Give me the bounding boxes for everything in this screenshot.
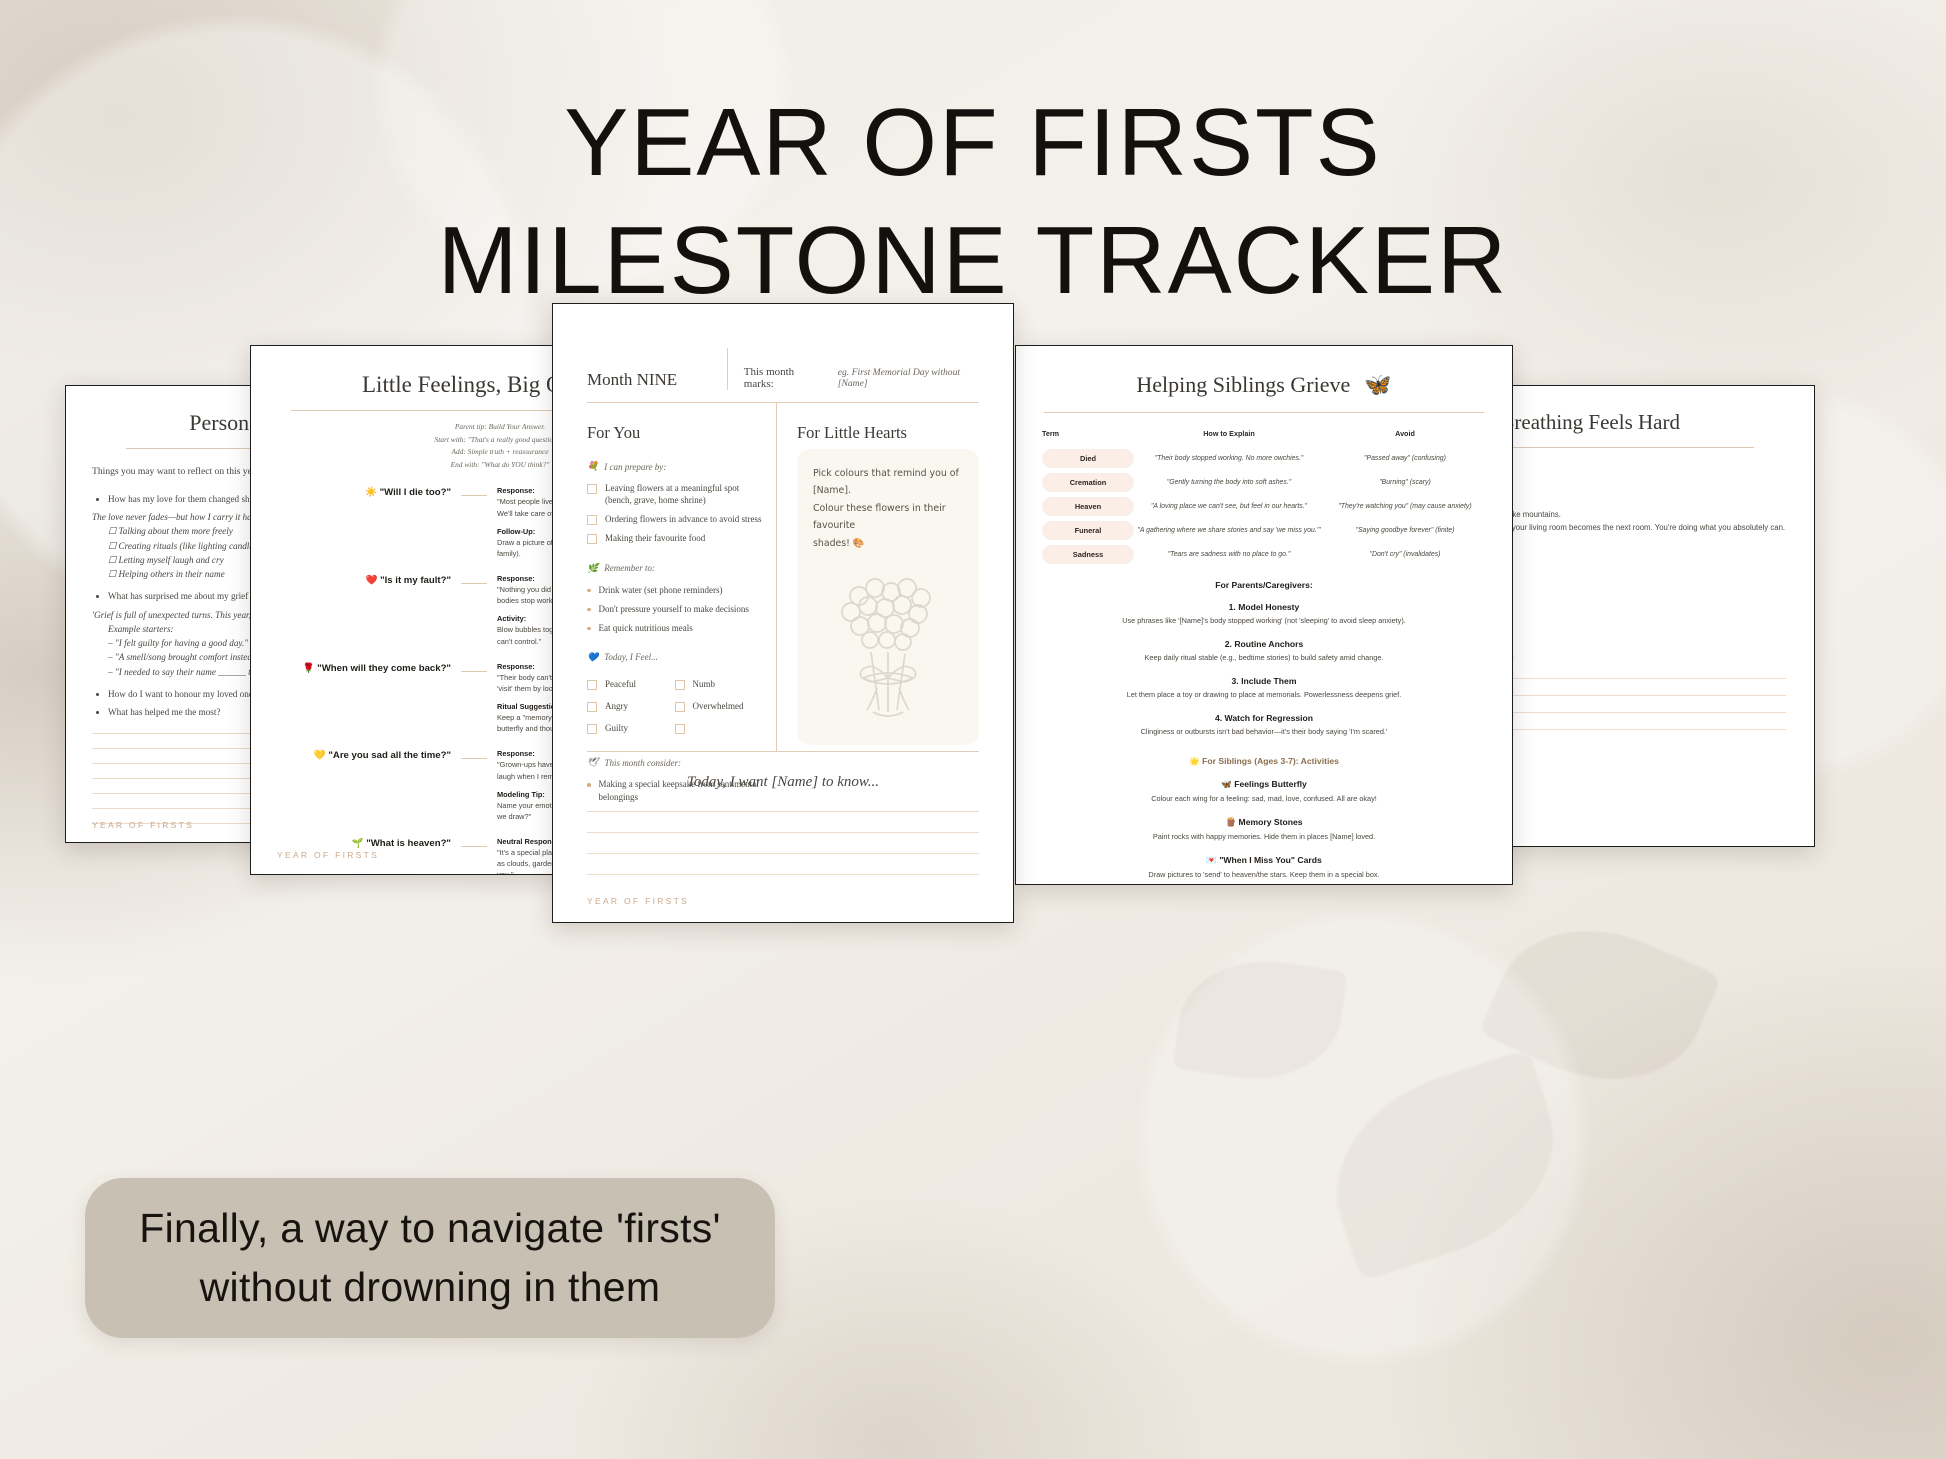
explain-cell: "Tears are sadness with no place to go."	[1134, 550, 1324, 560]
parents-list: 1. Model HonestyUse phrases like '[Name]…	[1042, 602, 1486, 738]
checkbox-label: Numb	[693, 678, 716, 690]
bullet-text: Drink water (set phone reminders)	[599, 584, 723, 596]
for-little-hearts-column: For Little Hearts Pick colours that remi…	[777, 403, 979, 751]
table-header-cell: How to Explain	[1134, 429, 1324, 438]
section-heading: 3. Include Them	[1042, 676, 1486, 686]
avoid-cell: "They're watching you" (may cause anxiet…	[1324, 502, 1486, 512]
page4-title: Helping Siblings Grieve	[1136, 372, 1350, 398]
checkbox-row[interactable]: Making their favourite food	[587, 532, 762, 544]
checkbox-label: Ordering flowers in advance to avoid str…	[605, 513, 761, 525]
colouring-card[interactable]: Pick colours that remind you of [Name]. …	[797, 449, 979, 745]
avoid-cell: "Don't cry" (invalidates)	[1324, 550, 1486, 560]
feelings-checklist[interactable]: PeacefulNumbAngryOverwhelmedGuilty	[587, 673, 762, 739]
consider-label: This month consider:	[604, 758, 681, 768]
section-heading: 💌 "When I Miss You" Cards	[1042, 855, 1486, 866]
preview-page-helping-siblings[interactable]: Helping Siblings Grieve 🦋 TermHow to Exp…	[1015, 345, 1513, 885]
explain-cell: "Gently turning the body into soft ashes…	[1134, 478, 1324, 488]
connector-dash	[461, 846, 487, 847]
checkbox-row[interactable]: Numb	[675, 678, 763, 690]
remember-heading: 🌿 Remember to:	[587, 563, 762, 574]
heart-icon: 💙	[587, 652, 598, 663]
checkbox-label: Angry	[605, 700, 628, 712]
for-little-hearts-heading: For Little Hearts	[797, 423, 979, 443]
bullet-dot	[587, 608, 591, 612]
checkbox-row[interactable]: Peaceful	[587, 678, 675, 690]
connector-dash	[461, 758, 487, 759]
checkbox-row[interactable]: Ordering flowers in advance to avoid str…	[587, 513, 762, 525]
connector-dash	[461, 583, 487, 584]
checkbox-label: Making their favourite food	[605, 532, 705, 544]
term-pill: Sadness	[1042, 545, 1134, 564]
section-heading: 🦋 Feelings Butterfly	[1042, 779, 1486, 790]
bullet-row: Don't pressure yourself to make decision…	[587, 603, 762, 615]
question-label: ☀️ "Will I die too?"	[273, 485, 451, 559]
table-row: Funeral"A gathering where we share stori…	[1042, 521, 1486, 540]
checkbox-row[interactable]: Guilty	[587, 722, 675, 734]
avoid-cell: "Burning" (scary)	[1324, 478, 1486, 488]
dove-icon: 🕊	[587, 757, 598, 768]
prepare-label: I can prepare by:	[604, 462, 666, 472]
cta-banner: Finally, a way to navigate 'firsts' with…	[85, 1178, 775, 1338]
page4-title-row: Helping Siblings Grieve 🦋	[1016, 346, 1512, 398]
explain-cell: "A loving place we can't see, but feel i…	[1134, 502, 1324, 512]
brand-label: YEAR OF FIRSTS	[92, 820, 194, 830]
connector-dash	[461, 495, 487, 496]
checkbox[interactable]	[587, 515, 597, 525]
page-title: YEAR OF FIRSTS MILESTONE TRACKER	[0, 95, 1946, 309]
question-text: "Will I die too?"	[380, 487, 451, 498]
question-icon: ❤️	[365, 575, 380, 586]
feel-heading: 💙 Today, I Feel...	[587, 652, 762, 663]
leaf-decor	[1172, 949, 1347, 1090]
checkbox[interactable]	[587, 680, 597, 690]
hearts-line-3: shades! 🎨	[813, 535, 963, 552]
question-text: "When will they come back?"	[317, 663, 451, 674]
question-text: "What is heaven?"	[366, 838, 451, 849]
brand-label: YEAR OF FIRSTS	[277, 850, 379, 860]
prepare-checklist[interactable]: Leaving flowers at a meaningful spot (be…	[587, 482, 762, 545]
remember-label: Remember to:	[604, 563, 655, 573]
question-text: "Is it my fault?"	[380, 575, 451, 586]
question-icon: 💛	[314, 750, 329, 761]
checkbox[interactable]	[675, 702, 685, 712]
checkbox-label: Guilty	[605, 722, 628, 734]
cta-line-1: Finally, a way to navigate 'firsts'	[139, 1199, 720, 1258]
leaf-decor	[1478, 896, 1722, 1114]
checkbox[interactable]	[675, 724, 685, 734]
term-pill: Funeral	[1042, 521, 1134, 540]
this-month-marks-label: This month marks:	[744, 366, 820, 390]
connector-dash	[461, 671, 487, 672]
table-row: Cremation"Gently turning the body into s…	[1042, 473, 1486, 492]
explain-cell: "A gathering where we share stories and …	[1134, 526, 1324, 536]
for-you-column: For You 💐 I can prepare by: Leaving flow…	[587, 403, 776, 751]
bullet-text: Eat quick nutritious meals	[599, 622, 693, 634]
title-line-2: MILESTONE TRACKER	[0, 213, 1946, 309]
checkbox[interactable]	[587, 724, 597, 734]
leaf-decor	[1309, 1049, 1580, 1282]
parents-heading: For Parents/Caregivers:	[1042, 580, 1486, 590]
write-line	[587, 832, 979, 833]
remember-list: Drink water (set phone reminders)Don't p…	[587, 584, 762, 634]
bullet-row: Drink water (set phone reminders)	[587, 584, 762, 596]
question-label: 🌹 "When will they come back?"	[273, 661, 451, 735]
prepare-heading: 💐 I can prepare by:	[587, 461, 762, 472]
title-line-1: YEAR OF FIRSTS	[564, 89, 1381, 196]
write-line	[587, 853, 979, 854]
divider	[1044, 412, 1484, 413]
bullet-dot	[587, 589, 591, 593]
herb-icon: 🌿	[587, 563, 598, 574]
term-pill: Cremation	[1042, 473, 1134, 492]
preview-page-month-tracker[interactable]: Month NINE This month marks: eg. First M…	[552, 303, 1014, 923]
question-label: 💛 "Are you sad all the time?"	[273, 748, 451, 822]
table-body: Died"Their body stopped working. No more…	[1042, 449, 1486, 564]
bullet-dot	[587, 783, 591, 787]
table-header-cell: Avoid	[1324, 429, 1486, 438]
table-header-row: TermHow to ExplainAvoid	[1042, 429, 1486, 444]
section-heading: 1. Model Honesty	[1042, 602, 1486, 612]
hearts-line-1: Pick colours that remind you of [Name].	[813, 465, 963, 500]
bullet-dot	[587, 627, 591, 631]
bouquet-illustration	[813, 560, 963, 735]
question-icon: ☀️	[365, 487, 380, 498]
write-line	[587, 811, 979, 812]
term-pill: Died	[1042, 449, 1134, 468]
section-body: Colour each wing for a feeling: sad, mad…	[1042, 794, 1486, 805]
section-body: Paint rocks with happy memories. Hide th…	[1042, 832, 1486, 843]
butterfly-icon: 🦋	[1364, 372, 1391, 398]
consider-heading: 🕊 This month consider:	[587, 757, 762, 768]
bullet-row: Eat quick nutritious meals	[587, 622, 762, 634]
cta-line-2: without drowning in them	[200, 1258, 661, 1317]
hearts-line-2: Colour these flowers in their favourite	[813, 500, 963, 535]
section-body: Let them place a toy or drawing to place…	[1042, 690, 1486, 701]
table-row: Heaven"A loving place we can't see, but …	[1042, 497, 1486, 516]
section-body: Clinginess or outbursts isn't bad behavi…	[1042, 727, 1486, 738]
checkbox[interactable]	[587, 702, 597, 712]
feel-label: Today, I Feel...	[604, 652, 658, 662]
section-body: Keep daily ritual stable (e.g., bedtime …	[1042, 653, 1486, 664]
checkbox-label: Overwhelmed	[693, 700, 744, 712]
brand-label: YEAR OF FIRSTS	[587, 896, 689, 906]
writing-lines[interactable]	[553, 811, 1013, 875]
checkbox[interactable]	[675, 680, 685, 690]
siblings-list: 🦋 Feelings ButterflyColour each wing for…	[1042, 779, 1486, 881]
section-heading: 🪵 Memory Stones	[1042, 817, 1486, 828]
checkbox-label: Peaceful	[605, 678, 636, 690]
checkbox-row[interactable]: Overwhelmed	[675, 700, 763, 712]
checkbox[interactable]	[587, 484, 597, 494]
table-row: Died"Their body stopped working. No more…	[1042, 449, 1486, 468]
term-pill: Heaven	[1042, 497, 1134, 516]
checkbox-row[interactable]	[675, 722, 763, 734]
divider	[587, 751, 979, 752]
checkbox-label: Leaving flowers at a meaningful spot (be…	[605, 482, 762, 506]
siblings-heading: 🌟 For Siblings (Ages 3-7): Activities	[1042, 756, 1486, 767]
question-icon: 🌱	[352, 838, 367, 849]
terms-table: TermHow to ExplainAvoid Died"Their body …	[1042, 429, 1486, 564]
question-text: "Are you sad all the time?"	[328, 750, 451, 761]
page3-header: Month NINE This month marks: eg. First M…	[553, 304, 1013, 390]
this-month-marks-example: eg. First Memorial Day without [Name]	[838, 367, 979, 389]
explain-cell: "Their body stopped working. No more owc…	[1134, 454, 1324, 464]
bullet-text: Don't pressure yourself to make decision…	[599, 603, 749, 615]
checkbox[interactable]	[587, 534, 597, 544]
table-row: Sadness"Tears are sadness with no place …	[1042, 545, 1486, 564]
section-body: Use phrases like '[Name]'s body stopped …	[1042, 616, 1486, 627]
avoid-cell: "Saying goodbye forever" (finite)	[1324, 526, 1486, 536]
checkbox-row[interactable]: Leaving flowers at a meaningful spot (be…	[587, 482, 762, 506]
page4-sections: For Parents/Caregivers: 1. Model Honesty…	[1042, 580, 1486, 881]
checkbox-row[interactable]: Angry	[587, 700, 675, 712]
question-icon: 🌹	[303, 663, 318, 674]
page3-columns: For You 💐 I can prepare by: Leaving flow…	[553, 403, 1013, 751]
for-you-heading: For You	[587, 423, 762, 443]
flower-icon: 💐	[587, 461, 598, 472]
section-body: Draw pictures to 'send' to heaven/the st…	[1042, 870, 1486, 881]
section-heading: 4. Watch for Regression	[1042, 713, 1486, 723]
write-line	[587, 874, 979, 875]
question-label: ❤️ "Is it my fault?"	[273, 573, 451, 647]
avoid-cell: "Passed away" (confusing)	[1324, 454, 1486, 464]
month-label: Month NINE	[587, 370, 727, 390]
table-header-cell: Term	[1042, 429, 1134, 438]
header-divider	[727, 348, 728, 390]
section-heading: 2. Routine Anchors	[1042, 639, 1486, 649]
